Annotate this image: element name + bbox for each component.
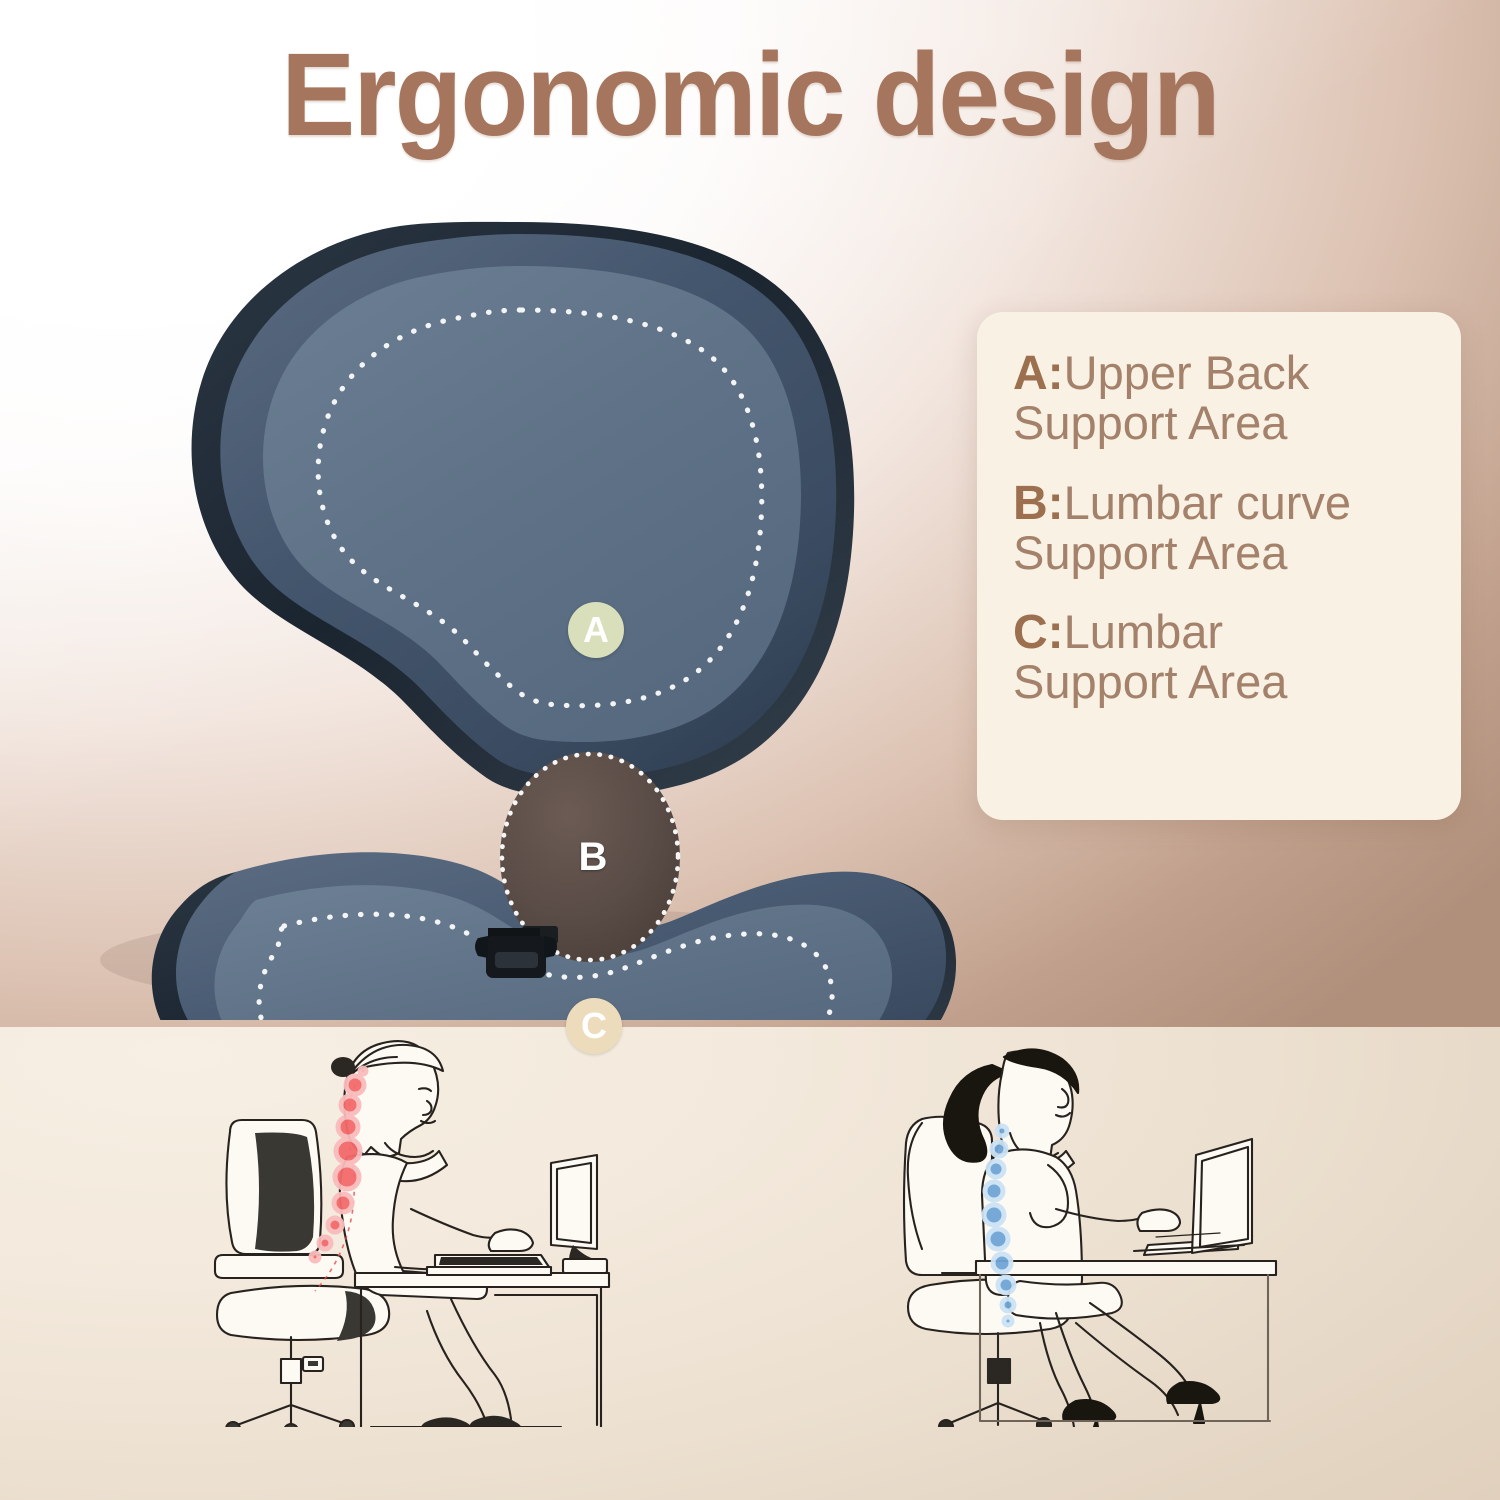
legend-card: A:Upper Back Support Area B:Lumbar curve… bbox=[977, 312, 1461, 820]
legend-key-b: B bbox=[1013, 477, 1048, 530]
legend-text-c-line1: Lumbar bbox=[1064, 605, 1223, 658]
cushion-illustration: A B C bbox=[70, 200, 970, 1020]
legend-sep-a: : bbox=[1048, 347, 1064, 400]
before-use-illustration bbox=[195, 1027, 695, 1427]
legend-item-a: A:Upper Back Support Area bbox=[1013, 346, 1431, 450]
legend-text-a-line2: Support Area bbox=[1013, 397, 1431, 450]
legend-key-c: C bbox=[1013, 606, 1048, 659]
after-use-illustration bbox=[880, 1027, 1360, 1427]
legend-text-b-line1: Lumbar curve bbox=[1064, 476, 1351, 529]
legend-key-a: A bbox=[1013, 347, 1048, 400]
marker-badge-a: A bbox=[568, 602, 624, 658]
legend-item-b: B:Lumbar curve Support Area bbox=[1013, 476, 1431, 580]
marker-badge-c: C bbox=[566, 998, 622, 1054]
page-title: Ergonomic design bbox=[45, 36, 1455, 154]
legend-text-b-line2: Support Area bbox=[1013, 527, 1431, 580]
before-after-panel: Before use After use bbox=[0, 1027, 1500, 1500]
legend-sep-c: : bbox=[1048, 606, 1064, 659]
marker-badge-b: B bbox=[566, 830, 620, 884]
product-diagram-panel: Ergonomic design bbox=[0, 0, 1500, 1027]
legend-text-c-line2: Support Area bbox=[1013, 656, 1431, 709]
infographic-page: Ergonomic design bbox=[0, 0, 1500, 1500]
legend-sep-b: : bbox=[1048, 477, 1064, 530]
legend-item-c: C:Lumbar Support Area bbox=[1013, 605, 1431, 709]
legend-text-a-line1: Upper Back bbox=[1064, 346, 1310, 399]
